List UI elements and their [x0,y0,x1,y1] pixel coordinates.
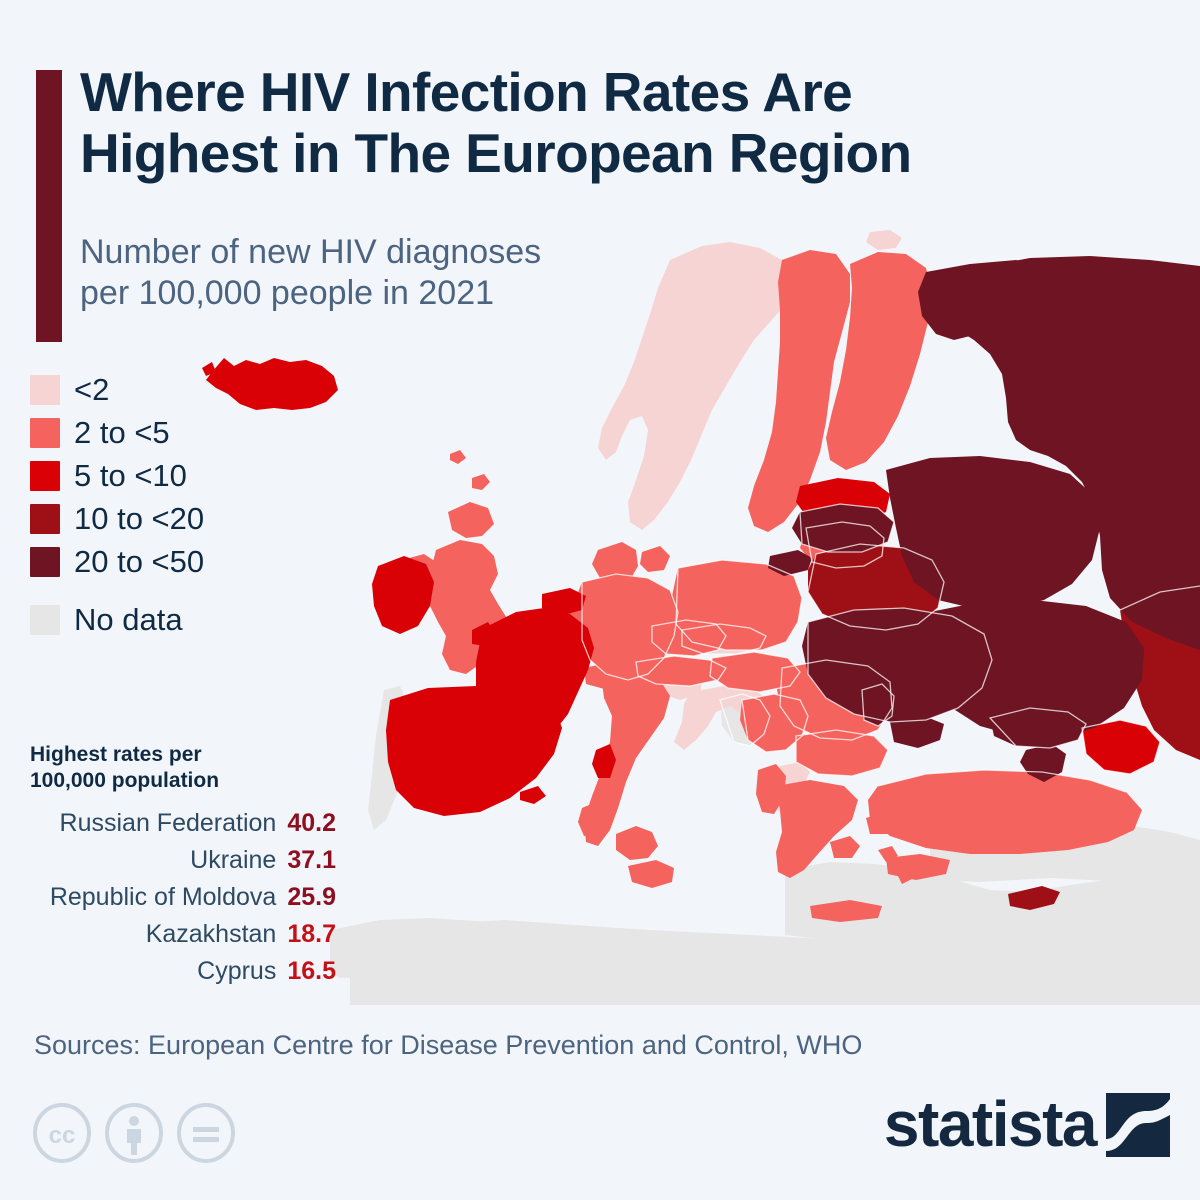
legend-item-10-to-20: 10 to <20 [30,497,320,540]
legend-label: No data [74,602,183,638]
subtitle-line-1: Number of new HIV diagnoses [80,232,720,273]
legend-swatch-icon [30,504,60,534]
title-accent-bar [36,70,62,342]
legend-swatch-icon [30,461,60,491]
legend-item-20-to-50: 20 to <50 [30,540,320,583]
legend-swatch-icon [30,375,60,405]
legend-label: 2 to <5 [74,415,170,451]
ranking-row: Cyprus 16.5 [30,957,340,986]
ranking-row: Ukraine 37.1 [30,846,340,875]
ranking-row: Republic of Moldova 25.9 [30,883,340,912]
ranking-row: Russian Federation 40.2 [30,809,340,838]
creative-commons-icon: cc [32,1103,92,1163]
ranking-row: Kazakhstan 18.7 [30,920,340,949]
legend-label: 20 to <50 [74,544,204,580]
ranking-country-name: Republic of Moldova [50,883,277,912]
ranking-country-name: Cyprus [197,957,276,986]
creative-commons-license-icons: cc [32,1103,236,1163]
ranking-value: 37.1 [287,846,336,875]
no-derivatives-equals-icon [176,1103,236,1163]
ranking-title-line-2: 100,000 population [30,768,340,794]
choropleth-map: .b0{fill:#f7d4d4} .b1{fill:#f4635e} .b2{… [330,230,1200,1005]
ranking-country-name: Russian Federation [60,809,277,838]
ranking-title: Highest rates per 100,000 population [30,742,340,793]
legend-item-under-2: <2 [30,368,320,411]
page-subtitle: Number of new HIV diagnoses per 100,000 … [80,232,720,314]
title-line-1: Where HIV Infection Rates Are [80,62,1190,123]
ranking-value: 16.5 [287,957,336,986]
legend-swatch-icon [30,547,60,577]
infographic-canvas: .b0{fill:#f7d4d4} .b1{fill:#f4635e} .b2{… [0,0,1200,1200]
sources-text: Sources: European Centre for Disease Pre… [34,1030,862,1061]
legend-swatch-icon [30,605,60,635]
legend-swatch-icon [30,418,60,448]
legend-item-2-to-5: 2 to <5 [30,411,320,454]
ranking-country-name: Ukraine [190,846,276,875]
highest-rates-panel: Highest rates per 100,000 population Rus… [30,742,340,994]
ranking-title-line-1: Highest rates per [30,742,340,768]
statista-logo: statista [884,1093,1170,1157]
page-title: Where HIV Infection Rates Are Highest in… [80,62,1190,184]
title-line-2: Highest in The European Region [80,123,1190,184]
attribution-person-icon [104,1103,164,1163]
ranking-country-name: Kazakhstan [146,920,277,949]
statista-wordmark: statista [884,1096,1096,1154]
svg-text:cc: cc [49,1122,76,1149]
ranking-value: 40.2 [287,809,336,838]
ranking-value: 18.7 [287,920,336,949]
ranking-value: 25.9 [287,883,336,912]
legend-item-no-data: No data [30,598,320,641]
statista-swoosh-mark [1106,1093,1170,1157]
subtitle-line-2: per 100,000 people in 2021 [80,273,720,314]
legend-label: <2 [74,372,109,408]
legend-label: 5 to <10 [74,458,187,494]
map-legend: <2 2 to <5 5 to <10 10 to <20 20 to <50 … [30,368,320,641]
legend-item-5-to-10: 5 to <10 [30,454,320,497]
legend-label: 10 to <20 [74,501,204,537]
